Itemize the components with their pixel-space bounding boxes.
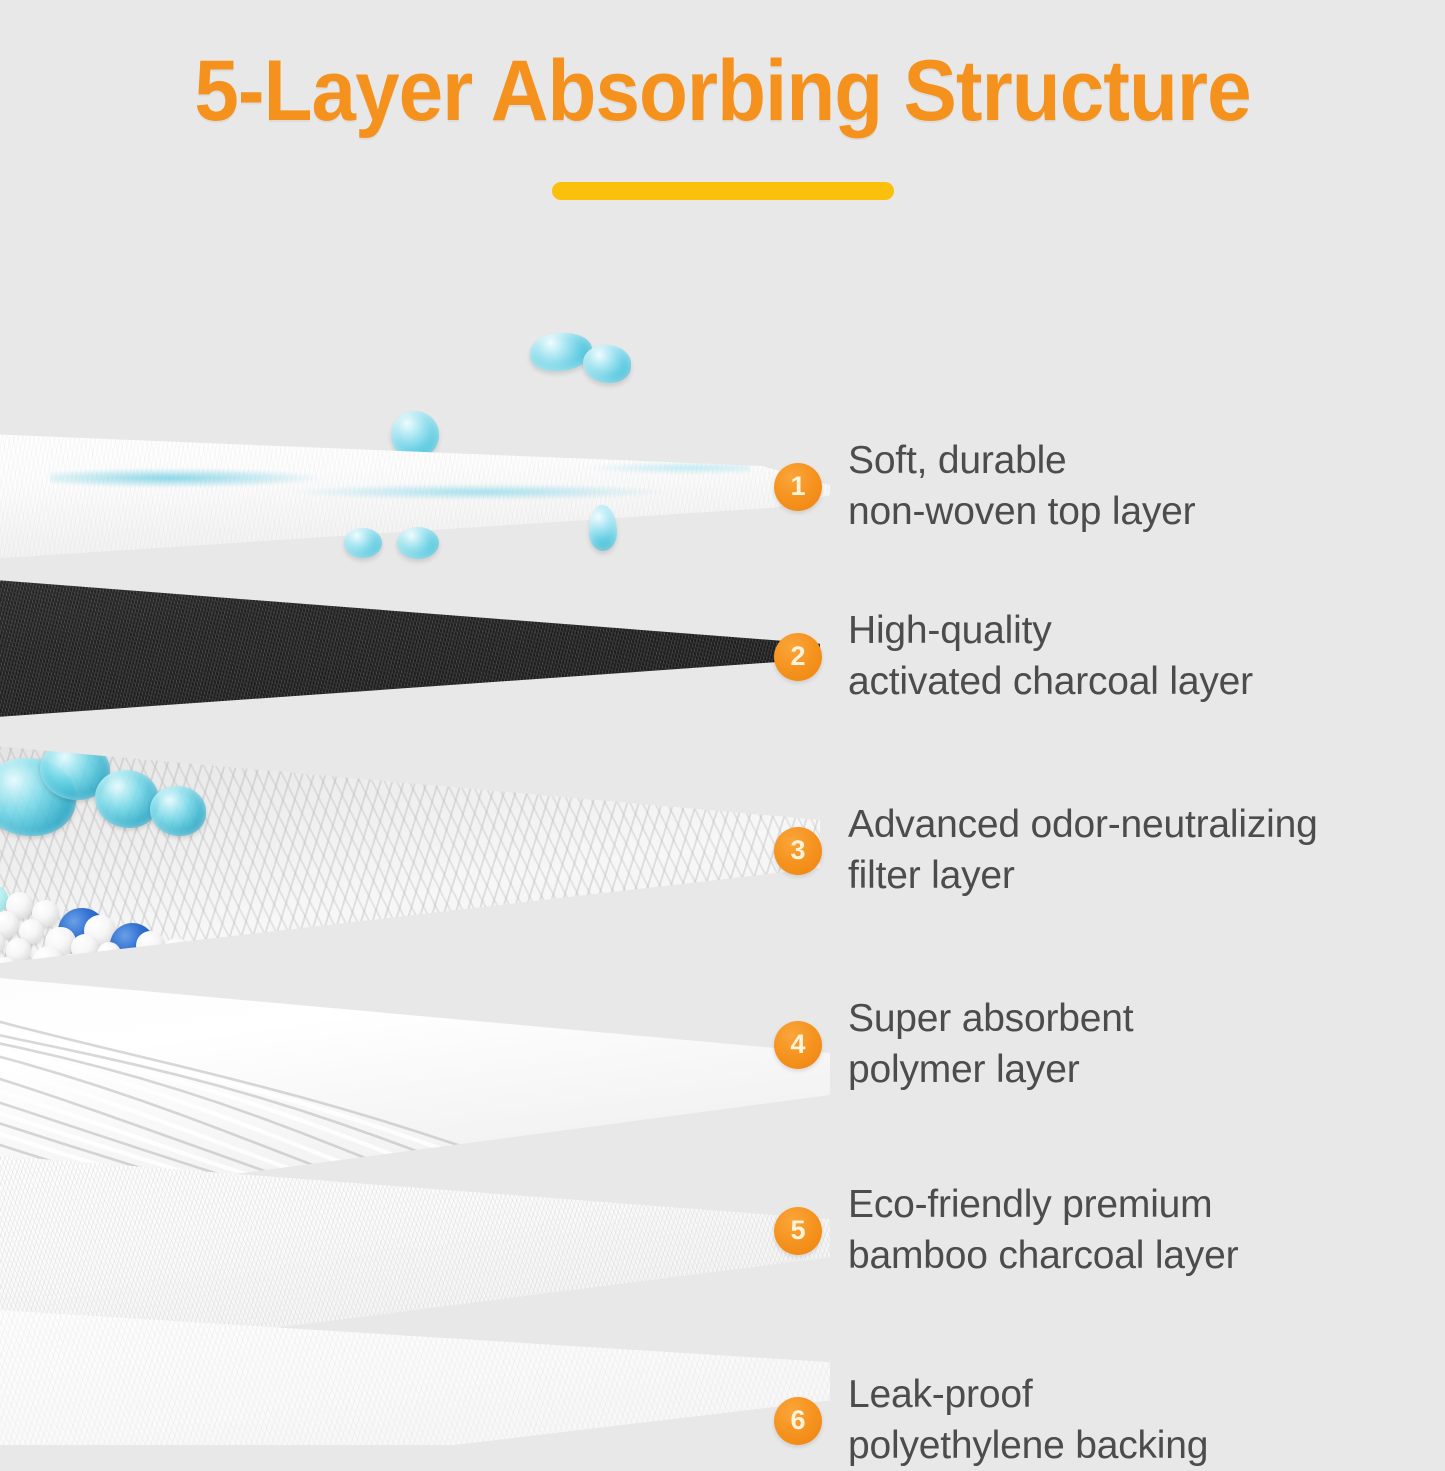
callout-label-4: Super absorbent polymer layer [848, 994, 1133, 1095]
polymer-bead [149, 957, 180, 988]
callout-badge-1[interactable]: 1 [774, 463, 822, 511]
polymer-bead [188, 946, 239, 997]
polymer-bead [175, 965, 199, 989]
filter-mesh-texture [0, 700, 820, 1000]
polymer-bead [84, 961, 111, 988]
water-droplet-icon [397, 527, 439, 559]
water-droplet-icon [344, 528, 382, 558]
callout-badge-2[interactable]: 2 [774, 633, 822, 681]
callout-badge-6[interactable]: 6 [774, 1397, 822, 1445]
product-structure-infographic: 5-Layer Absorbing Structure [0, 0, 1445, 1445]
polymer-bead [162, 938, 191, 967]
polymer-bead [97, 942, 121, 966]
callout-label-1: Soft, durable non-woven top layer [848, 436, 1195, 537]
charcoal-texture [0, 545, 820, 735]
polymer-bead [292, 977, 316, 1001]
callout-badge-4[interactable]: 4 [774, 1021, 822, 1069]
layer-stack-illustration [0, 0, 830, 1445]
callout-6[interactable]: 6 Leak-proof polyethylene backing [774, 1370, 1208, 1471]
polymer-bead [318, 984, 343, 1009]
polymer-bead [214, 954, 244, 984]
callout-label-5: Eco-friendly premium bamboo charcoal lay… [848, 1180, 1238, 1281]
layer-3-odor-filter-beads [0, 700, 820, 1000]
callout-label-3: Advanced odor-neutralizing filter layer [848, 800, 1318, 901]
callout-5[interactable]: 5 Eco-friendly premium bamboo charcoal l… [774, 1180, 1238, 1281]
callout-label-2: High-quality activated charcoal layer [848, 606, 1253, 707]
gel-blob [95, 770, 159, 828]
polymer-bead [58, 954, 84, 980]
water-droplet-icon [583, 345, 631, 383]
callout-label-6: Leak-proof polyethylene backing [848, 1370, 1208, 1471]
callout-4[interactable]: 4 Super absorbent polymer layer [774, 994, 1133, 1095]
polymer-bead [71, 934, 99, 962]
polymer-bead [136, 931, 165, 960]
callout-3[interactable]: 3 Advanced odor-neutralizing filter laye… [774, 800, 1318, 901]
layer-2-activated-charcoal [0, 545, 820, 735]
gel-blob [150, 786, 206, 836]
polymer-bead [123, 950, 153, 980]
callout-badge-3[interactable]: 3 [774, 827, 822, 875]
callout-1[interactable]: 1 Soft, durable non-woven top layer [774, 436, 1195, 537]
water-spread-stain [50, 448, 750, 510]
callout-badge-5[interactable]: 5 [774, 1207, 822, 1255]
polymer-bead [240, 961, 272, 993]
polymer-bead [32, 946, 64, 978]
callout-2[interactable]: 2 High-quality activated charcoal layer [774, 606, 1253, 707]
